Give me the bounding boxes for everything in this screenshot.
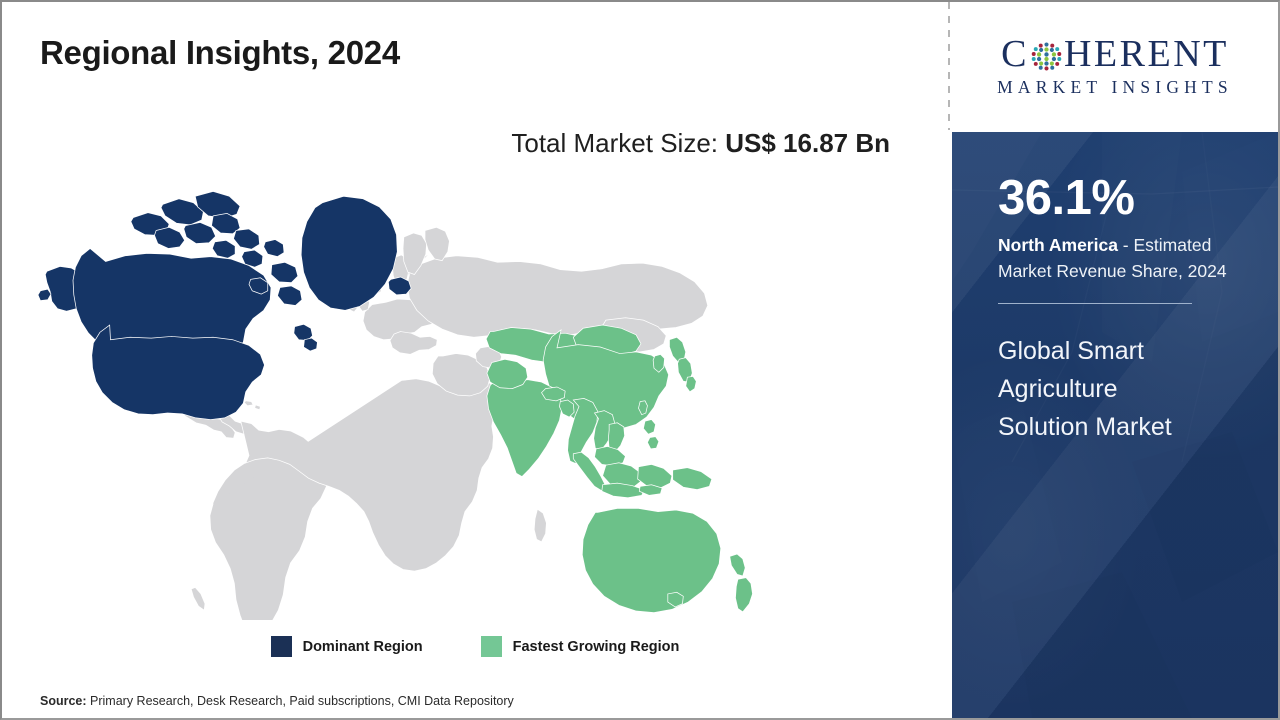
market-report-name: Global Smart Agriculture Solution Market [998,332,1213,446]
dominant-region-swatch [271,636,292,657]
map-legend: Dominant Region Fastest Growing Region [2,636,948,657]
logo-wordmark: C [1001,35,1229,73]
logo-tagline: MARKET INSIGHTS [997,79,1233,97]
stat-panel: 36.1% North America - Estimated Market R… [952,132,1278,718]
infographic-page: Regional Insights, 2024 Total Market Siz… [0,0,1280,720]
left-content-pane: Regional Insights, 2024 Total Market Siz… [2,2,948,718]
legend-item-dominant: Dominant Region [271,636,423,657]
fastest-growing-region-swatch [481,636,502,657]
source-label: Source: [40,694,87,708]
legend-item-fastest-growing: Fastest Growing Region [481,636,680,657]
stat-panel-content: 36.1% North America - Estimated Market R… [952,132,1278,446]
total-market-size: Total Market Size: US$ 16.87 Bn [2,128,890,159]
stat-description: North America - Estimated Market Revenue… [998,233,1250,285]
source-text: Primary Research, Desk Research, Paid su… [87,694,514,708]
world-map [32,180,862,620]
legend-label-fastest-growing: Fastest Growing Region [513,639,680,655]
logo-letters-herent: HERENT [1064,35,1229,73]
source-line: Source: Primary Research, Desk Research,… [40,694,514,708]
vertical-dashed-divider [948,2,950,130]
brand-logo: C [952,2,1278,130]
logo-letter-c: C [1001,35,1029,73]
map-region-dominant [38,191,411,419]
map-region-fastest-growing [486,325,752,613]
market-size-label: Total Market Size: [511,128,718,158]
stat-region-name: North America [998,235,1118,255]
market-size-value: US$ 16.87 Bn [725,128,890,158]
stat-divider-rule [998,303,1192,304]
stat-percentage: 36.1% [998,174,1250,224]
globe-dots-icon [1030,40,1063,73]
legend-label-dominant: Dominant Region [303,639,423,655]
page-title: Regional Insights, 2024 [40,34,400,72]
